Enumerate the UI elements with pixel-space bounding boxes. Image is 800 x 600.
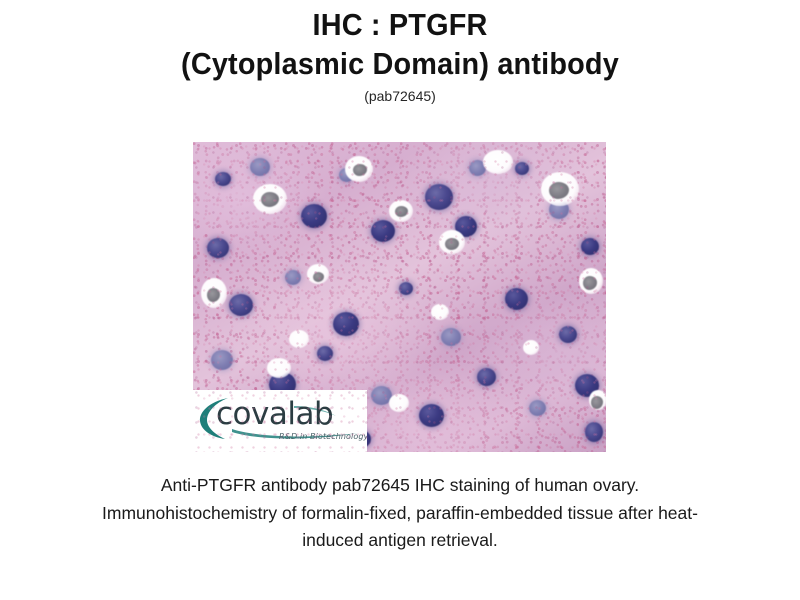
cell-nucleus (207, 238, 229, 258)
tissue-vacuole (523, 340, 539, 355)
figure-caption: Anti-PTGFR antibody pab72645 IHC stainin… (78, 472, 722, 555)
tissue-vacuole (267, 358, 291, 378)
page-title-line-2: (Cytoplasmic Domain) antibody (28, 45, 772, 83)
catalog-number: (pab72645) (0, 87, 800, 105)
figure-header: IHC : PTGFR (Cytoplasmic Domain) antibod… (0, 0, 800, 105)
cell-nucleus (301, 204, 327, 228)
cell-nucleus (505, 288, 528, 310)
cell-nucleus (229, 294, 253, 316)
cell-nucleus (581, 238, 599, 255)
tissue-vacuole (289, 330, 309, 348)
cell-nucleus (250, 158, 270, 176)
ihc-tissue-image: covalab R&D in Biotechnology (193, 142, 606, 452)
cell-nucleus (419, 404, 444, 427)
cell-nucleus (585, 422, 603, 442)
covalab-wordmark: covalab (216, 397, 333, 431)
tissue-vacuole (389, 394, 409, 412)
covalab-logo: covalab R&D in Biotechnology (193, 390, 367, 452)
cell-nucleus (515, 162, 529, 175)
cell-nucleus (317, 346, 333, 361)
tissue-vacuole (431, 304, 449, 320)
cell-nucleus (559, 326, 577, 343)
cell-nucleus (285, 270, 301, 285)
cell-nucleus (371, 220, 395, 242)
cell-nucleus (477, 368, 496, 386)
cell-nucleus (529, 400, 546, 416)
cell-nucleus (425, 184, 453, 210)
cell-nucleus (211, 350, 233, 370)
page-title-line-1: IHC : PTGFR (28, 6, 772, 44)
cell-nucleus (333, 312, 359, 336)
cell-nucleus (215, 172, 231, 186)
micrograph-figure: covalab R&D in Biotechnology (193, 142, 606, 452)
covalab-tagline: R&D in Biotechnology (279, 432, 367, 442)
tissue-vacuole (483, 150, 513, 174)
cell-nucleus (399, 282, 413, 295)
cell-nucleus (441, 328, 461, 346)
